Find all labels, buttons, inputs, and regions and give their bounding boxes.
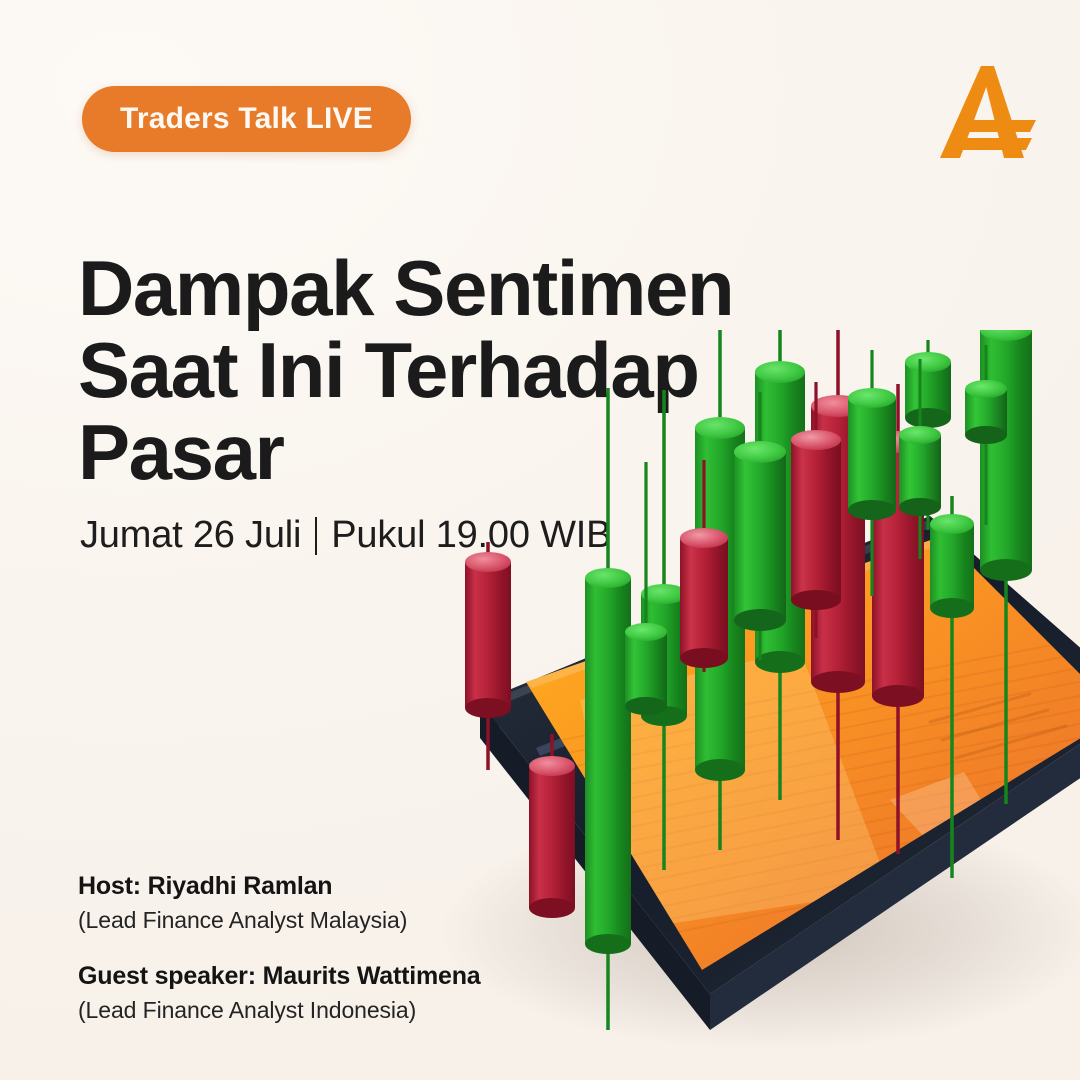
candle-bullish-peak-1 [899,359,941,559]
guest-role: (Lead Finance Analyst Indonesia) [78,997,481,1024]
brand-logo [932,58,1044,166]
schedule-separator [315,517,317,555]
candlestick-peak-group [860,345,1060,645]
candle-bullish-a [625,462,667,715]
poster-canvas: Traders Talk LIVE Dampak Sentimen Saat I… [0,0,1080,1080]
guest-name: Guest speaker: Maurits Wattimena [78,962,481,991]
host-name: Host: Riyadhi Ramlan [78,872,481,901]
headline-line-1: Dampak Sentimen [78,248,818,330]
letter-a-monogram-icon [932,58,1044,166]
speaker-credits: Host: Riyadhi Ramlan (Lead Finance Analy… [78,872,481,1024]
host-credit: Host: Riyadhi Ramlan (Lead Finance Analy… [78,872,481,934]
candle-bearish-b [680,460,728,672]
live-badge-label: Traders Talk LIVE [120,102,373,136]
candle-bullish-c [734,392,786,660]
live-badge[interactable]: Traders Talk LIVE [82,86,411,152]
candle-bearish-2 [529,734,575,918]
candle-bearish-d [791,382,841,638]
candle-bullish-peak-2 [965,345,1007,525]
schedule-date: Jumat 26 Juli [80,514,301,557]
host-role: (Lead Finance Analyst Malaysia) [78,907,481,934]
guest-credit: Guest speaker: Maurits Wattimena (Lead F… [78,962,481,1024]
